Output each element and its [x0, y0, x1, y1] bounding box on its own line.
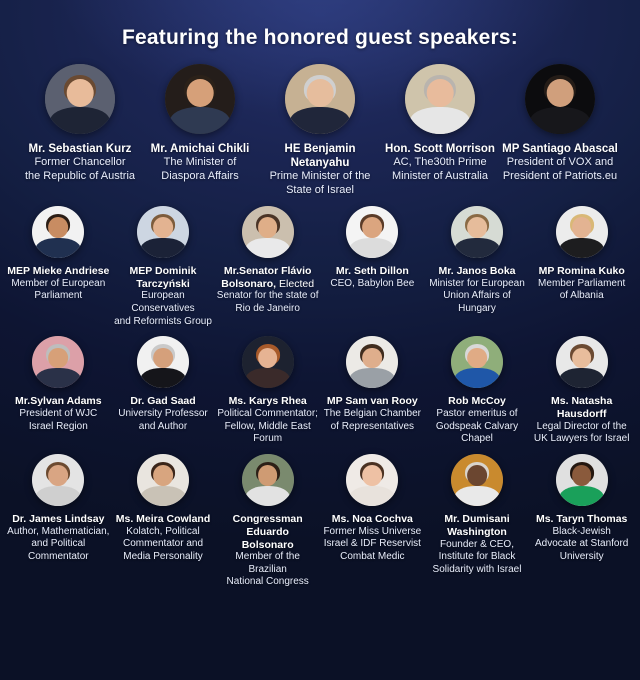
speaker-role: The Minister ofDiaspora Affairs [161, 156, 238, 184]
portrait-noa-cochva [346, 454, 398, 506]
speaker-name: Mr. Amichai Chikli [151, 142, 250, 156]
avatar-shoulders [559, 368, 604, 388]
avatar-shoulders [559, 238, 604, 258]
speaker-card: Ms. Noa CochvaFormer Miss UniverseIsrael… [321, 454, 424, 564]
speaker-row-featured: Mr. Sebastian KurzFormer Chancellorthe R… [6, 64, 634, 198]
avatar-shoulders [350, 368, 395, 388]
speaker-role: President of WJCIsrael Region [19, 408, 97, 433]
speaker-card: Hon. Scott MorrisonAC, The30th PrimeMini… [382, 64, 498, 184]
avatar-face [362, 217, 382, 238]
portrait-mieke-andriese [32, 206, 84, 258]
speaker-name: Mr. Seth Dillon [336, 265, 409, 278]
portrait-natasha-hausdorff [556, 336, 608, 388]
speaker-role: Former Miss UniverseIsrael & IDF Reservi… [323, 526, 421, 564]
avatar-shoulders [290, 107, 350, 134]
speaker-card: HE Benjamin NetanyahuPrime Minister of t… [262, 64, 378, 198]
speaker-role-inline: Elected [276, 278, 314, 290]
avatar-shoulders [141, 238, 186, 258]
speaker-name: Mr. Sebastian Kurz [29, 142, 132, 156]
avatar-face [67, 79, 94, 107]
portrait-dominik-tarczynski [137, 206, 189, 258]
speaker-rows: Mr. Sebastian KurzFormer Chancellorthe R… [0, 64, 640, 589]
speaker-role: Member of the BrazilianNational Congress [216, 551, 319, 589]
avatar-face [467, 217, 487, 238]
portrait-james-lindsay [32, 454, 84, 506]
avatar-face [572, 348, 592, 369]
avatar-shoulders [350, 238, 395, 258]
speaker-role: Kolatch, PoliticalCommentator andMedia P… [123, 526, 203, 564]
speaker-name: Ms. Meira Cowland [116, 513, 211, 526]
avatar-shoulders [455, 368, 500, 388]
speaker-role: Legal Director of theUK Lawyers for Isra… [534, 421, 630, 446]
speaker-card: MP Romina KukoMember Parliamentof Albani… [530, 206, 633, 303]
speaker-role: Minister for EuropeanUnion Affairs of Hu… [426, 278, 529, 316]
avatar-face [187, 79, 214, 107]
portrait-taryn-thomas [556, 454, 608, 506]
speakers-poster: Featuring the honored guest speakers: Mr… [0, 0, 640, 680]
portrait-sylvan-adams [32, 336, 84, 388]
avatar-face [307, 79, 334, 107]
speaker-role: Member Parliamentof Albania [538, 278, 625, 303]
speaker-name-continuation: Washington [447, 526, 507, 538]
avatar-face [467, 348, 487, 369]
speaker-role: European Conservativesand Reformists Gro… [112, 290, 215, 328]
speaker-name: Ms. Noa Cochva [332, 513, 413, 526]
speaker-name: MEP Dominik Tarczyński [112, 265, 215, 291]
avatar-shoulders [410, 107, 470, 134]
speaker-name: Congressman EduardoBolsonaro [216, 513, 319, 551]
speaker-name: Mr.Sylvan Adams [15, 395, 102, 408]
avatar-face [362, 465, 382, 486]
speaker-name: MEP Mieke Andriese [7, 265, 109, 278]
speaker-role: The Belgian Chamberof Representatives [324, 408, 421, 433]
speaker-card: Ms. Natasha HausdorffLegal Director of t… [530, 336, 633, 446]
avatar-shoulders [36, 368, 81, 388]
speaker-role: Prime Minister of theState of Israel [270, 170, 371, 198]
speaker-role: Member of EuropeanParliament [11, 278, 105, 303]
avatar-face [48, 217, 68, 238]
speaker-name: Rob McCoy [448, 395, 506, 408]
portrait-sebastian-kurz [45, 64, 115, 134]
speaker-card: Mr. Sebastian KurzFormer Chancellorthe R… [22, 64, 138, 184]
speaker-role: Former Chancellorthe Republic of Austria [25, 156, 135, 184]
avatar-face [48, 465, 68, 486]
portrait-meira-cowland [137, 454, 189, 506]
portrait-eduardo-bolsonaro [242, 454, 294, 506]
avatar-face [572, 465, 592, 486]
avatar-shoulders [245, 486, 290, 506]
portrait-benjamin-netanyahu [285, 64, 355, 134]
speaker-row-4: Dr. James LindsayAuthor, Mathematician,a… [6, 454, 634, 589]
speaker-card: MEP Mieke AndrieseMember of EuropeanParl… [7, 206, 110, 303]
avatar-shoulders [245, 238, 290, 258]
avatar-face [153, 217, 173, 238]
avatar-face [362, 348, 382, 369]
speaker-role: AC, The30th PrimeMinister of Australia [392, 156, 488, 184]
avatar-face [467, 465, 487, 486]
avatar-face [258, 465, 278, 486]
speaker-role: Black-JewishAdvocate at StanfordUniversi… [535, 526, 628, 564]
speaker-card: MP Sam van RooyThe Belgian Chamberof Rep… [321, 336, 424, 433]
avatar-shoulders [530, 107, 590, 134]
avatar-shoulders [170, 107, 230, 134]
speaker-role: President of VOX andPresident of Patriot… [503, 156, 617, 184]
portrait-gad-saad [137, 336, 189, 388]
avatar-face [427, 79, 454, 107]
speaker-row-2: MEP Mieke AndrieseMember of EuropeanParl… [6, 206, 634, 328]
page-title: Featuring the honored guest speakers: [0, 0, 640, 50]
speaker-name: Mr. DumisaniWashington [444, 513, 509, 539]
avatar-face [258, 217, 278, 238]
speaker-name: Dr. James Lindsay [12, 513, 104, 526]
speaker-card: Dr. James LindsayAuthor, Mathematician,a… [7, 454, 110, 564]
speaker-row-3: Mr.Sylvan AdamsPresident of WJCIsrael Re… [6, 336, 634, 446]
speaker-name: MP Romina Kuko [539, 265, 625, 278]
avatar-shoulders [350, 486, 395, 506]
speaker-name-continuation: Bolsonaro [242, 539, 294, 551]
speaker-name-continuation: Bolsonaro, [221, 278, 276, 290]
portrait-sam-van-rooy [346, 336, 398, 388]
avatar-face [572, 217, 592, 238]
portrait-janos-boka [451, 206, 503, 258]
avatar-shoulders [141, 486, 186, 506]
speaker-role: CEO, Babylon Bee [330, 278, 414, 291]
portrait-dumisani-washington [451, 454, 503, 506]
speaker-name: HE Benjamin Netanyahu [262, 142, 378, 170]
speaker-role: University Professorand Author [118, 408, 207, 433]
speaker-name: Mr.Senator FlávioBolsonaro, Elected [221, 265, 314, 291]
avatar-face [153, 348, 173, 369]
portrait-romina-kuko [556, 206, 608, 258]
avatar-face [258, 348, 278, 369]
speaker-name: Ms. Taryn Thomas [536, 513, 627, 526]
avatar-shoulders [141, 368, 186, 388]
avatar-face [153, 465, 173, 486]
speaker-name: MP Santiago Abascal [502, 142, 618, 156]
avatar-shoulders [36, 238, 81, 258]
speaker-name: Dr. Gad Saad [130, 395, 195, 408]
speaker-role: Author, Mathematician,and PoliticalComme… [7, 526, 109, 564]
portrait-scott-morrison [405, 64, 475, 134]
speaker-card: Ms. Taryn ThomasBlack-JewishAdvocate at … [530, 454, 633, 564]
speaker-card: Mr. Janos BokaMinister for EuropeanUnion… [426, 206, 529, 316]
speaker-name: Ms. Karys Rhea [229, 395, 307, 408]
portrait-karys-rhea [242, 336, 294, 388]
speaker-card: Congressman EduardoBolsonaroMember of th… [216, 454, 319, 589]
avatar-shoulders [455, 238, 500, 258]
portrait-rob-mccoy [451, 336, 503, 388]
speaker-name: Ms. Natasha Hausdorff [530, 395, 633, 421]
speaker-card: Ms. Meira CowlandKolatch, PoliticalComme… [112, 454, 215, 564]
avatar-face [547, 79, 574, 107]
speaker-card: MP Santiago AbascalPresident of VOX andP… [502, 64, 618, 184]
avatar-shoulders [455, 486, 500, 506]
avatar-shoulders [50, 107, 110, 134]
speaker-name: MP Sam van Rooy [327, 395, 418, 408]
speaker-card: Mr.Sylvan AdamsPresident of WJCIsrael Re… [7, 336, 110, 433]
speaker-role: Political Commentator;Fellow, Middle Eas… [216, 408, 319, 446]
speaker-name: Hon. Scott Morrison [385, 142, 495, 156]
avatar-shoulders [36, 486, 81, 506]
speaker-card: Mr. DumisaniWashingtonFounder & CEO,Inst… [426, 454, 529, 576]
avatar-face [48, 348, 68, 369]
portrait-amichai-chikli [165, 64, 235, 134]
speaker-role: Pastor emeritus ofGodspeak Calvary Chape… [426, 408, 529, 446]
avatar-shoulders [559, 486, 604, 506]
speaker-role: Founder & CEO,Institute for BlackSolidar… [433, 539, 522, 577]
speaker-role: Senator for the state ofRio de Janeiro [217, 290, 319, 315]
speaker-name: Mr. Janos Boka [438, 265, 515, 278]
speaker-card: Dr. Gad SaadUniversity Professorand Auth… [112, 336, 215, 433]
portrait-flavio-bolsonaro [242, 206, 294, 258]
speaker-card: MEP Dominik TarczyńskiEuropean Conservat… [112, 206, 215, 328]
portrait-santiago-abascal [525, 64, 595, 134]
speaker-card: Mr. Seth DillonCEO, Babylon Bee [321, 206, 424, 290]
speaker-card: Ms. Karys RheaPolitical Commentator;Fell… [216, 336, 319, 446]
speaker-card: Rob McCoyPastor emeritus ofGodspeak Calv… [426, 336, 529, 446]
portrait-seth-dillon [346, 206, 398, 258]
speaker-card: Mr. Amichai ChikliThe Minister ofDiaspor… [142, 64, 258, 184]
speaker-card: Mr.Senator FlávioBolsonaro, ElectedSenat… [216, 206, 319, 316]
avatar-shoulders [245, 368, 290, 388]
